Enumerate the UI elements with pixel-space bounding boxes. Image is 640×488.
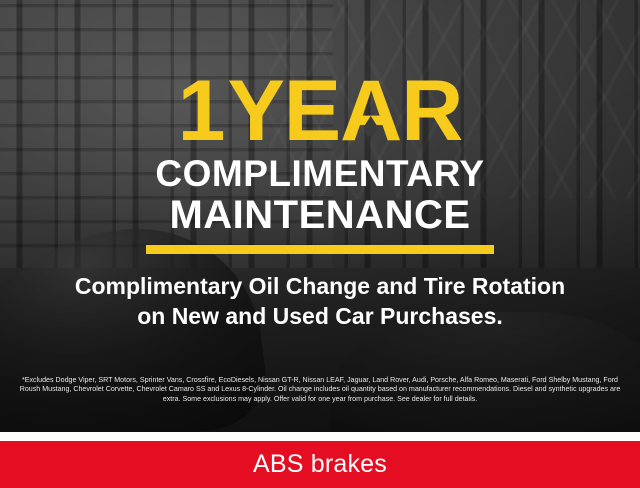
subhead-complimentary: COMPLIMENTARY xyxy=(155,155,484,192)
headline-number: 1 xyxy=(178,63,228,159)
disclaimer-fine-print: *Excludes Dodge Viper, SRT Motors, Sprin… xyxy=(14,376,626,404)
caption-bar: ABS brakes xyxy=(0,441,640,488)
subhead-maintenance: MAINTENANCE xyxy=(169,195,470,235)
hero-text-stack: 1YEAR COMPLIMENTARY MAINTENANCE Complime… xyxy=(0,0,640,432)
offer-description-line-2: on New and Used Car Purchases. xyxy=(137,301,503,331)
headline-letter-a: A xyxy=(340,63,401,159)
caption-separator xyxy=(0,432,640,441)
headline-word-part-b: R xyxy=(401,63,462,159)
yellow-divider-bar xyxy=(146,245,494,254)
hero-image-area: 1YEAR COMPLIMENTARY MAINTENANCE Complime… xyxy=(0,0,640,432)
advertisement-banner: 1YEAR COMPLIMENTARY MAINTENANCE Complime… xyxy=(0,0,640,488)
headline-letter-a-with-oil-drop: A xyxy=(340,72,401,151)
headline-one-year: 1YEAR xyxy=(178,72,463,151)
headline-word-part-a: YE xyxy=(227,63,340,159)
caption-label: ABS brakes xyxy=(253,450,387,479)
offer-description-line-1: Complimentary Oil Change and Tire Rotati… xyxy=(75,271,565,301)
